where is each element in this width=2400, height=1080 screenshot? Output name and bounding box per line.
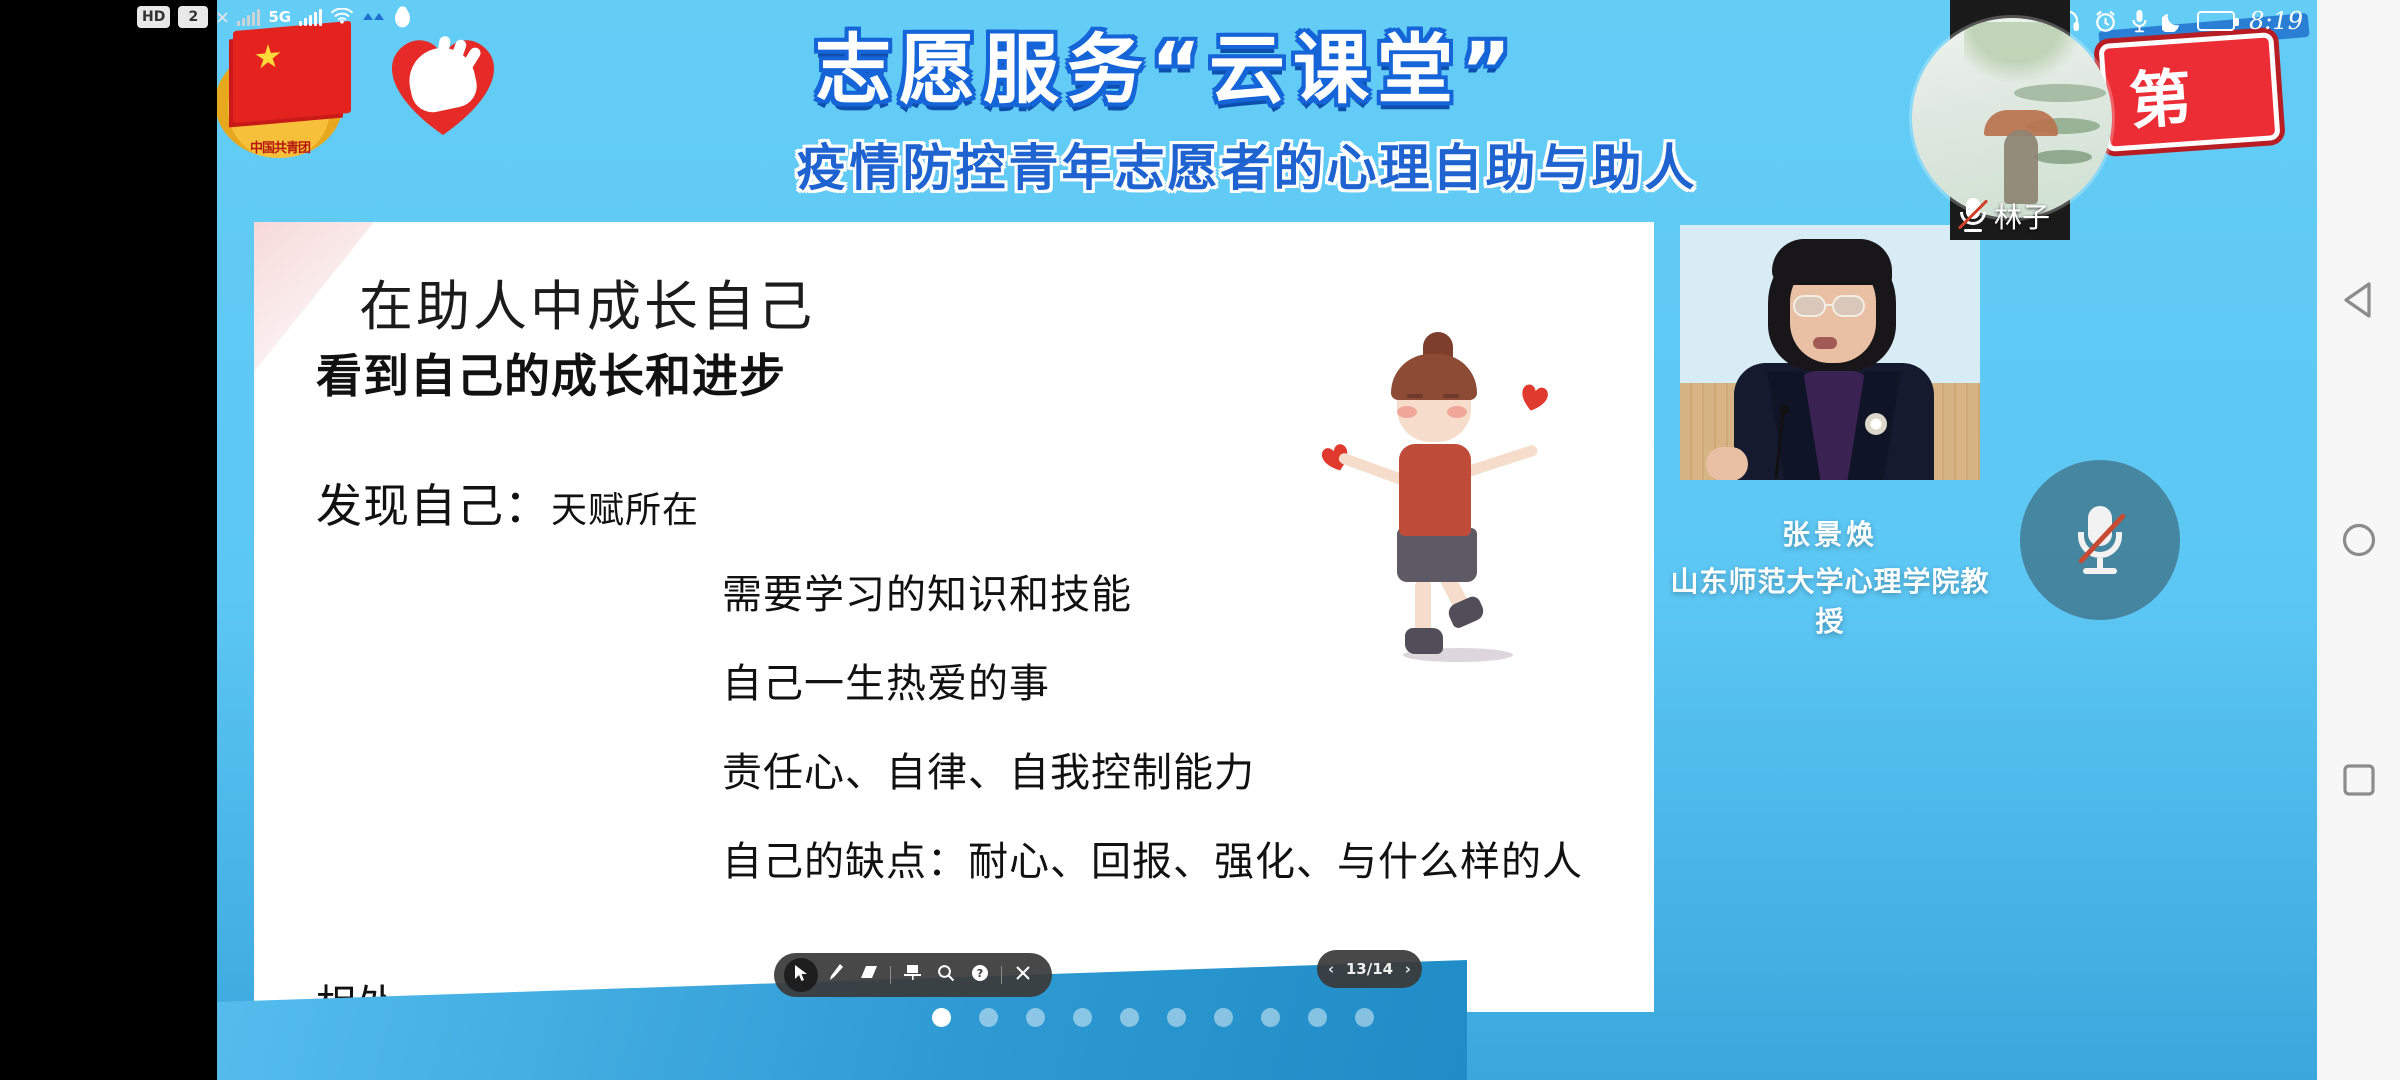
slide-line-3-label: 发现自己： (316, 479, 551, 533)
close-icon (1015, 965, 1031, 986)
participant-name: 林子 (1994, 196, 2050, 236)
toolbar-divider (890, 966, 891, 984)
pagination-dot[interactable] (1214, 1008, 1233, 1027)
slide-line-3-value: 天赋所在 (551, 490, 699, 531)
presenter-video[interactable] (1680, 225, 1980, 480)
pagination-dot[interactable] (1120, 1008, 1139, 1027)
network-type-label: 5G (268, 8, 291, 26)
magnifier-icon (937, 964, 955, 987)
pagination-dot[interactable] (932, 1008, 951, 1027)
youth-league-emblem-icon: 中国共青团 (217, 22, 369, 162)
signal-off-icon (216, 11, 229, 24)
cursor-icon (794, 964, 809, 987)
status-bar-right: 8:19 (2055, 0, 2317, 42)
eraser-tool-button[interactable] (852, 958, 886, 992)
dancing-girl-illustration-icon (1319, 332, 1569, 642)
pen-tool-button[interactable] (818, 958, 852, 992)
mic-off-icon (2073, 504, 2127, 576)
whiteboard-tool-button[interactable] (895, 958, 929, 992)
signal-bars-icon (237, 8, 260, 26)
pagination-dot[interactable] (1026, 1008, 1045, 1027)
zoom-tool-button[interactable] (929, 958, 963, 992)
letterbox-left (0, 0, 217, 1080)
help-tool-button[interactable]: ? (963, 958, 997, 992)
sim-chip: 2 (178, 6, 208, 28)
pagination-dot[interactable] (979, 1008, 998, 1027)
emblem-label: 中国共青团 (223, 137, 337, 156)
close-tool-button[interactable] (1006, 958, 1040, 992)
avatar (1912, 18, 2112, 218)
pagination-dots[interactable] (932, 1008, 1374, 1027)
home-icon[interactable] (2336, 517, 2382, 563)
slide-heading: 在助人中成长自己 (359, 262, 815, 341)
floating-mute-button[interactable] (2020, 460, 2180, 620)
presenter-name: 张景焕 (1680, 513, 1980, 553)
qq-penguin-icon (394, 6, 411, 28)
alarm-icon (2094, 10, 2117, 33)
heart-icon (1516, 381, 1552, 415)
presenter-panel: 张景焕 山东师范大学心理学院教授 (1680, 225, 1980, 865)
next-page-button[interactable]: › (1405, 960, 1411, 978)
status-bar-left: HD 2 5G (137, 6, 411, 28)
pagination-dot[interactable] (1308, 1008, 1327, 1027)
slide-wrapped-word: 相处 (316, 972, 396, 1012)
slide-line-2: 看到自己的成长和进步 (316, 340, 786, 406)
wifi-icon (330, 8, 354, 26)
page-label: 13/14 (1346, 960, 1393, 978)
back-icon[interactable] (2336, 277, 2382, 323)
phone-screen: 中国共青团 志愿服务“云课堂” 疫情防控青年志愿者的心理自助与助人 第 在助人中… (0, 0, 2400, 1080)
participant-thumbnail[interactable]: 林子 (1950, 0, 2070, 240)
cursor-tool-button[interactable] (784, 958, 818, 992)
slide-line-3: 发现自己：天赋所在 (316, 470, 699, 536)
system-nav-bar (2317, 0, 2400, 1080)
clock-label: 8:19 (2249, 7, 2303, 35)
shared-slide[interactable]: 在助人中成长自己 看到自己的成长和进步 发现自己：天赋所在 需要学习的知识和技能… (254, 222, 1654, 1012)
do-not-disturb-icon (2162, 10, 2183, 32)
mic-off-icon (1956, 196, 1990, 234)
presenter-affiliation: 山东师范大学心理学院教授 (1668, 560, 1992, 640)
movement-icon (362, 10, 386, 24)
annotation-toolbar[interactable]: ? (774, 953, 1052, 997)
presenter-board-icon (903, 964, 922, 986)
lapel-pin-icon (1865, 413, 1887, 435)
banner-subtitle: 疫情防控青年志愿者的心理自助与助人 (547, 128, 1947, 200)
pagination-dot[interactable] (1167, 1008, 1186, 1027)
question-mark-icon: ? (971, 964, 989, 987)
pagination-dot[interactable] (1355, 1008, 1374, 1027)
slide-bullet: 自己的缺点：耐心、回报、强化、与什么样的人 (722, 829, 1583, 887)
signal-bars-icon (299, 8, 322, 26)
hd-chip: HD (137, 6, 170, 28)
battery-icon (2197, 11, 2235, 31)
pagination-dot[interactable] (1261, 1008, 1280, 1027)
episode-badge: 第 (2098, 32, 2280, 152)
prev-page-button[interactable]: ‹ (1328, 960, 1334, 978)
microphone-icon (2131, 9, 2148, 33)
svg-text:?: ? (977, 967, 983, 980)
slide-bullet: 责任心、自律、自我控制能力 (722, 740, 1583, 798)
toolbar-divider (1001, 966, 1002, 984)
eraser-icon (860, 965, 878, 985)
page-indicator[interactable]: ‹ 13/14 › (1317, 950, 1422, 988)
pagination-dot[interactable] (1073, 1008, 1092, 1027)
brush-icon (827, 963, 844, 987)
recents-icon[interactable] (2336, 757, 2382, 803)
